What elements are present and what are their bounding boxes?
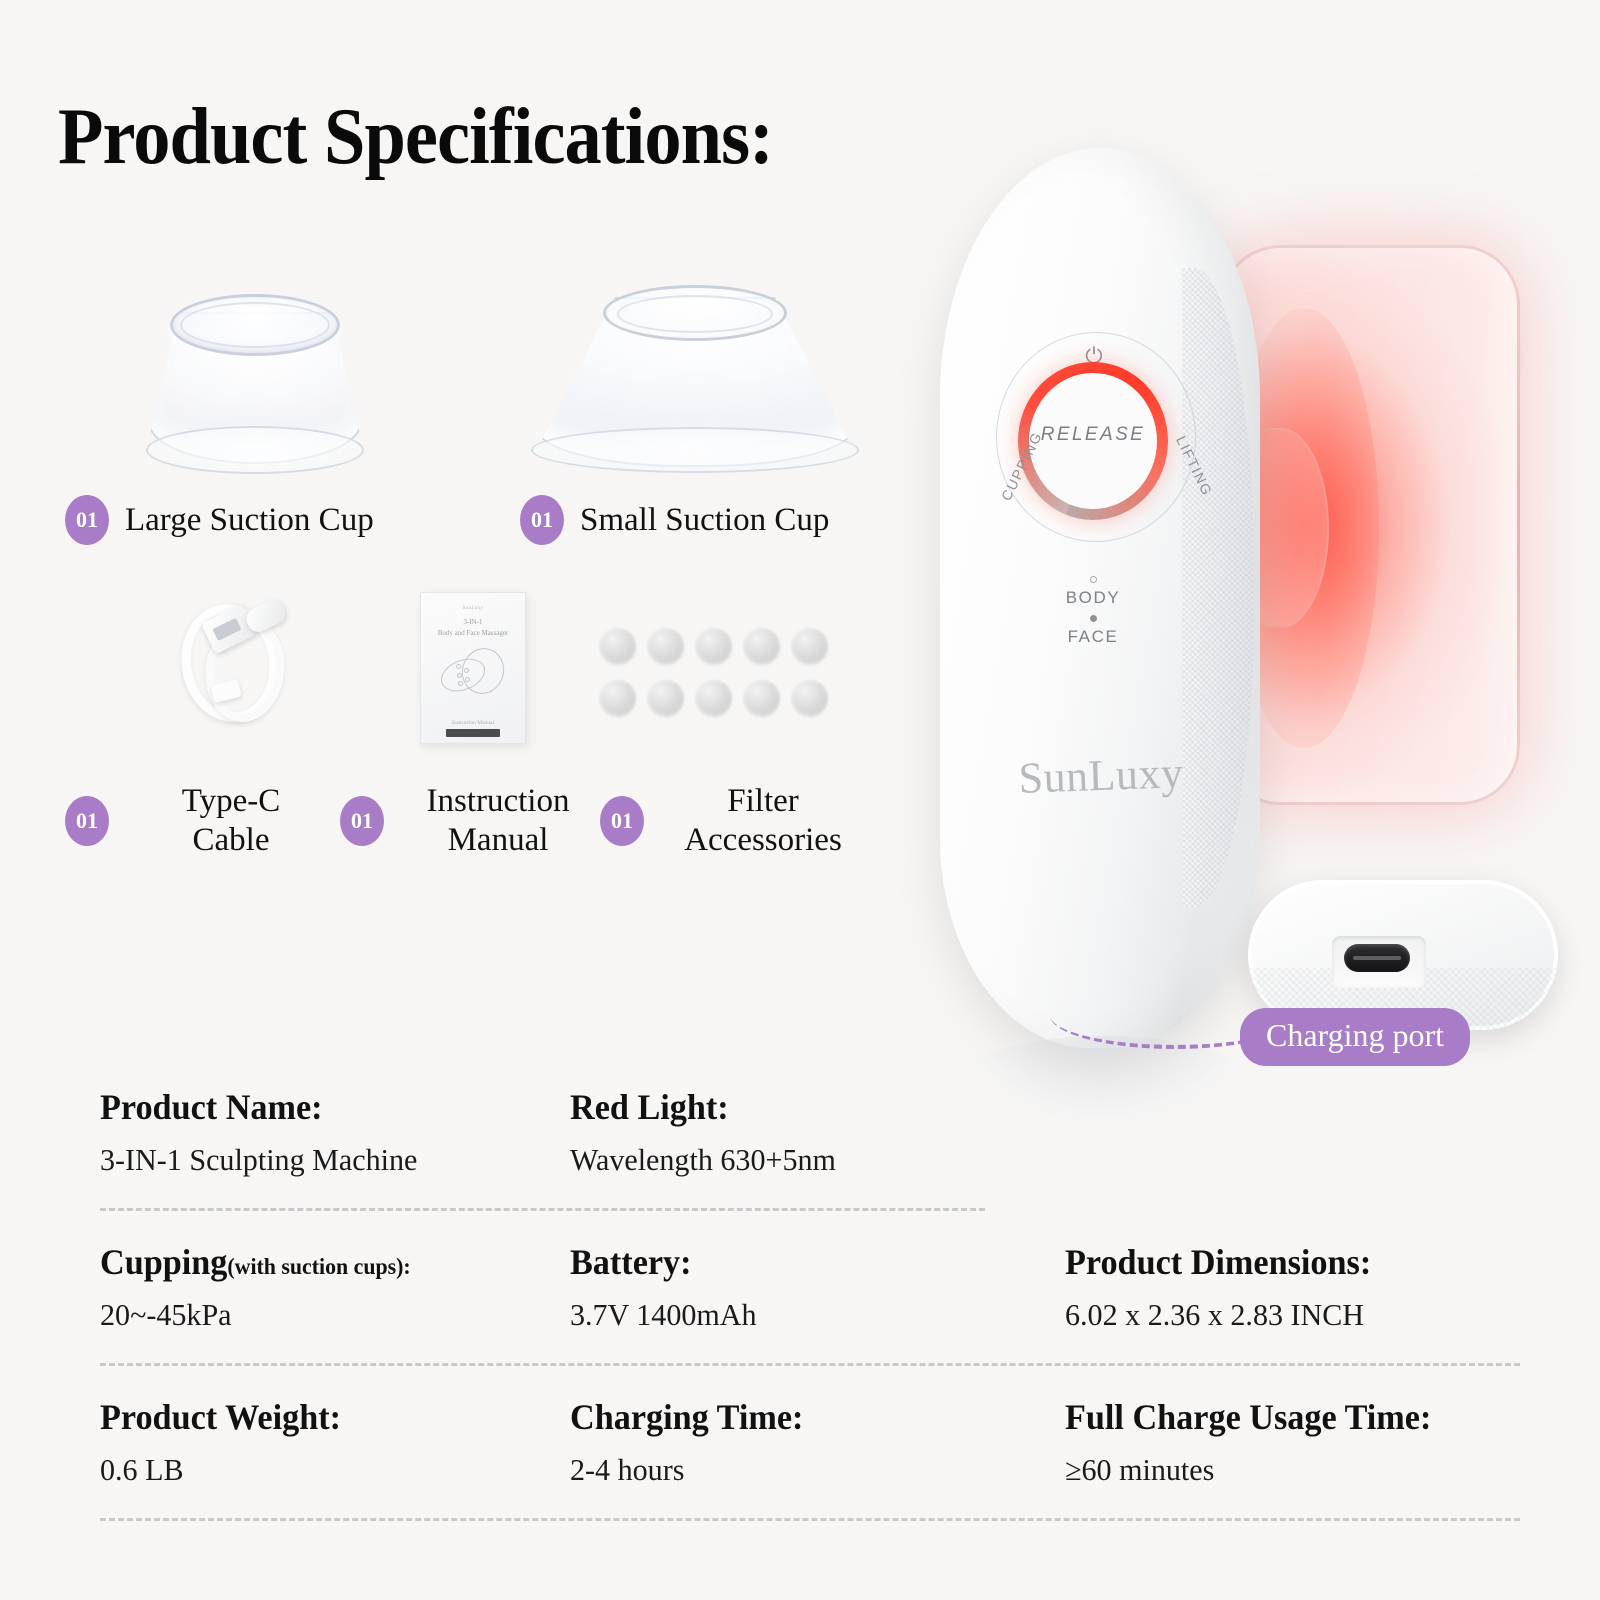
accessory-name: Type-C Cable bbox=[131, 782, 331, 860]
accessory-label-instruction-manual: 01 Instruction Manual bbox=[340, 782, 598, 860]
manual-subtitle: Body and Face Massager bbox=[420, 629, 526, 637]
spec-divider-3 bbox=[100, 1518, 1520, 1521]
body-indicator-dot bbox=[1090, 576, 1097, 583]
filter-pads-image bbox=[600, 628, 828, 728]
qty-badge: 01 bbox=[340, 796, 384, 846]
spec-cell-product-name: Product Name: 3-IN-1 Sculpting Machine bbox=[100, 1086, 570, 1178]
filter-pad bbox=[744, 680, 780, 716]
manual-footer: Instruction Manual bbox=[420, 720, 526, 726]
cup-inner-rim bbox=[180, 302, 330, 348]
usb-cable-image bbox=[168, 588, 318, 734]
grip-texture bbox=[1182, 268, 1254, 908]
accessory-name-line1: Filter bbox=[658, 782, 868, 821]
spec-cell-dimensions: Product Dimensions: 6.02 x 2.36 x 2.83 I… bbox=[1065, 1241, 1520, 1333]
filter-pad bbox=[792, 680, 828, 716]
spec-value: 6.02 x 2.36 x 2.83 INCH bbox=[1065, 1297, 1506, 1333]
manual-barcode bbox=[446, 729, 500, 737]
spec-cell-red-light: Red Light: Wavelength 630+5nm bbox=[570, 1086, 1065, 1178]
spec-cell-cupping: Cupping(with suction cups): 20~-45kPa bbox=[100, 1241, 570, 1333]
cup-base bbox=[146, 426, 364, 474]
spec-cell-usage-time: Full Charge Usage Time: ≥60 minutes bbox=[1065, 1396, 1520, 1488]
spec-row-1: Product Name: 3-IN-1 Sculpting Machine R… bbox=[100, 1086, 1520, 1178]
spec-key: Product Weight: bbox=[100, 1396, 547, 1438]
spec-key: Battery: bbox=[570, 1241, 1040, 1283]
cup-base bbox=[531, 427, 859, 473]
spec-value: 3-IN-1 Sculpting Machine bbox=[100, 1142, 556, 1178]
spec-row-2: Cupping(with suction cups): 20~-45kPa Ba… bbox=[100, 1241, 1520, 1333]
spec-value: ≥60 minutes bbox=[1065, 1452, 1506, 1488]
accessory-name-line2: Accessories bbox=[658, 821, 868, 860]
device-handle: ⏻ RELEASE CUPPING LIFTING BODY FACE SunL… bbox=[940, 148, 1260, 1048]
charging-port-callout: Charging port bbox=[1240, 1008, 1470, 1066]
spec-value: 2-4 hours bbox=[570, 1452, 1050, 1488]
accessory-name-line2: Cable bbox=[131, 821, 331, 860]
spec-key: Product Dimensions: bbox=[1065, 1241, 1497, 1283]
filter-pad bbox=[696, 628, 732, 664]
red-light-cup bbox=[1220, 245, 1520, 805]
accessory-name: Filter Accessories bbox=[658, 782, 868, 860]
spec-divider-1 bbox=[100, 1208, 985, 1211]
filter-pad bbox=[600, 680, 636, 716]
spec-key: Red Light: bbox=[570, 1086, 1040, 1128]
accessory-name-line2: Manual bbox=[398, 821, 598, 860]
filter-pad bbox=[792, 628, 828, 664]
spec-value: 0.6 LB bbox=[100, 1452, 556, 1488]
accessory-name-line1: Instruction bbox=[398, 782, 598, 821]
spec-value: 20~-45kPa bbox=[100, 1297, 556, 1333]
device-brand-logo: SunLuxy bbox=[985, 746, 1217, 805]
qty-badge: 01 bbox=[600, 796, 644, 846]
filter-pad bbox=[648, 680, 684, 716]
accessories-section: 01 Large Suction Cup 01 Small Suction Cu… bbox=[0, 0, 930, 900]
spec-row-3: Product Weight: 0.6 LB Charging Time: 2-… bbox=[100, 1396, 1520, 1488]
spec-cell-charging-time: Charging Time: 2-4 hours bbox=[570, 1396, 1065, 1488]
accessory-name: Large Suction Cup bbox=[125, 502, 374, 539]
face-indicator-dot bbox=[1090, 615, 1097, 622]
usb-c-port-icon bbox=[1344, 944, 1410, 972]
qty-badge: 01 bbox=[65, 495, 109, 545]
mode-label-body: BODY bbox=[1030, 588, 1156, 608]
cup-inner-rim bbox=[617, 295, 773, 333]
filter-pad bbox=[696, 680, 732, 716]
specifications-table: Product Name: 3-IN-1 Sculpting Machine R… bbox=[100, 1086, 1520, 1551]
device-showcase: ⏻ RELEASE CUPPING LIFTING BODY FACE SunL… bbox=[880, 120, 1580, 1100]
spec-cell-weight: Product Weight: 0.6 LB bbox=[100, 1396, 570, 1488]
mode-label-face: FACE bbox=[1030, 627, 1156, 647]
spec-key: Cupping(with suction cups): bbox=[100, 1241, 547, 1283]
small-suction-cup-image bbox=[525, 275, 865, 485]
accessory-label-small-suction-cup: 01 Small Suction Cup bbox=[520, 495, 829, 545]
spec-value: 3.7V 1400mAh bbox=[570, 1297, 1050, 1333]
manual-model: 3-IN-1 bbox=[420, 618, 526, 626]
accessory-name: Small Suction Cup bbox=[580, 502, 829, 539]
spec-key: Charging Time: bbox=[570, 1396, 1040, 1438]
accessory-name: Instruction Manual bbox=[398, 782, 598, 860]
accessory-label-filter-accessories: 01 Filter Accessories bbox=[600, 782, 868, 860]
qty-badge: 01 bbox=[65, 796, 109, 846]
manual-brand: SunLuxy bbox=[420, 606, 526, 611]
spec-key: Product Name: bbox=[100, 1086, 547, 1128]
spec-key-main: Cupping bbox=[100, 1242, 227, 1282]
filter-pad bbox=[648, 628, 684, 664]
accessory-label-large-suction-cup: 01 Large Suction Cup bbox=[65, 495, 374, 545]
filter-pad bbox=[744, 628, 780, 664]
spec-key: Full Charge Usage Time: bbox=[1065, 1396, 1497, 1438]
spec-divider-2 bbox=[100, 1363, 1520, 1366]
spec-value: Wavelength 630+5nm bbox=[570, 1142, 1050, 1178]
roller-dots bbox=[456, 664, 476, 688]
accessory-label-type-c-cable: 01 Type-C Cable bbox=[65, 782, 331, 860]
instruction-manual-image: SunLuxy 3-IN-1 Body and Face Massager In… bbox=[420, 592, 526, 744]
manual-illustration bbox=[440, 646, 506, 702]
spec-key-sub: (with suction cups): bbox=[227, 1254, 410, 1279]
accessory-name-line1: Type-C bbox=[131, 782, 331, 821]
filter-pad bbox=[600, 628, 636, 664]
spec-cell-battery: Battery: 3.7V 1400mAh bbox=[570, 1241, 1065, 1333]
qty-badge: 01 bbox=[520, 495, 564, 545]
mode-indicators: BODY FACE bbox=[1030, 576, 1156, 647]
large-suction-cup-image bbox=[140, 278, 370, 478]
